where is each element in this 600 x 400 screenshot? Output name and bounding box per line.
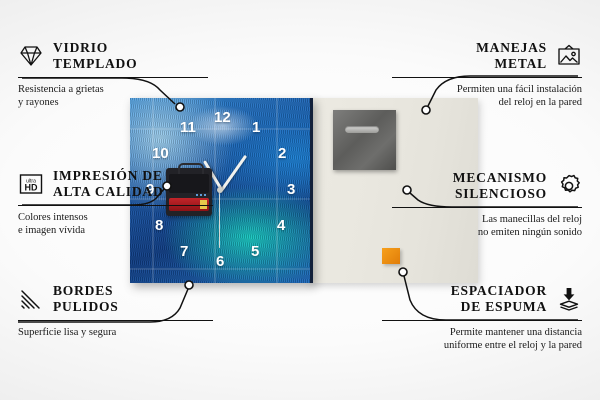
callout-title-line2: METAL bbox=[476, 56, 547, 72]
callout-title-line2: TEMPLADO bbox=[53, 56, 137, 72]
callout-espaciador-de-espuma: ESPACIADOR DE ESPUMA Permite mantener un… bbox=[382, 283, 582, 352]
callout-sub-line2: del reloj en la pared bbox=[392, 96, 582, 109]
callout-divider bbox=[382, 320, 582, 321]
callout-divider bbox=[18, 320, 213, 321]
callout-title-line2: PULIDOS bbox=[53, 299, 119, 315]
callout-sub-line1: Resistencia a grietas bbox=[18, 83, 208, 96]
callout-title-line1: MECANISMO bbox=[453, 170, 547, 186]
callout-title-line2: DE ESPUMA bbox=[451, 299, 547, 315]
callout-divider bbox=[18, 77, 208, 78]
ultra-hd-icon: ultra HD bbox=[18, 171, 44, 197]
picture-frame-icon bbox=[556, 43, 582, 69]
callout-sub-line1: Colores intensos bbox=[18, 211, 213, 224]
callout-mecanismo-silencioso: MECANISMO SILENCIOSO Las manecillas del … bbox=[392, 170, 582, 239]
callout-sub-line1: Superficie lisa y segura bbox=[18, 326, 213, 339]
infographic-canvas: 12 1 2 3 4 5 6 7 8 9 10 11 bbox=[0, 0, 600, 400]
callout-sub-line1: Las manecillas del reloj bbox=[392, 213, 582, 226]
callout-title-line1: MANEJAS bbox=[476, 40, 547, 56]
callout-manejas-metal: MANEJAS METAL Permiten una fácil instala… bbox=[392, 40, 582, 109]
callout-sub-line1: Permiten una fácil instalación bbox=[392, 83, 582, 96]
callout-title-line1: IMPRESIÓN DE bbox=[53, 168, 164, 184]
callout-title-line2: ALTA CALIDAD bbox=[53, 184, 164, 200]
callout-title-line1: ESPACIADOR bbox=[451, 283, 547, 299]
callout-title-line1: BORDES bbox=[53, 283, 119, 299]
ultra-hd-icon-bottom: HD bbox=[25, 182, 38, 192]
callout-bordes-pulidos: BORDES PULIDOS Superficie lisa y segura bbox=[18, 283, 213, 339]
callout-sub-line1: Permite mantener una distancia bbox=[382, 326, 582, 339]
callout-sub-line2: e imagen vívida bbox=[18, 224, 213, 237]
arrow-onto-layers-icon bbox=[556, 286, 582, 312]
callout-title-line1: VIDRIO bbox=[53, 40, 137, 56]
callout-divider bbox=[392, 207, 582, 208]
node-espaciador bbox=[399, 268, 407, 276]
callout-title-line2: SILENCIOSO bbox=[453, 186, 547, 202]
callout-impresion-alta-calidad: ultra HD IMPRESIÓN DE ALTA CALIDAD Color… bbox=[18, 168, 213, 237]
diamond-icon bbox=[18, 43, 44, 69]
gear-icon bbox=[556, 173, 582, 199]
callout-vidrio-templado: VIDRIO TEMPLADO Resistencia a grietas y … bbox=[18, 40, 208, 109]
callout-sub-line2: no emiten ningún sonido bbox=[392, 226, 582, 239]
diagonal-lines-icon bbox=[18, 286, 44, 312]
callout-sub-line2: uniforme entre el reloj y la pared bbox=[382, 339, 582, 352]
callout-sub-line2: y rayones bbox=[18, 96, 208, 109]
callout-divider bbox=[18, 205, 213, 206]
callout-divider bbox=[392, 77, 582, 78]
